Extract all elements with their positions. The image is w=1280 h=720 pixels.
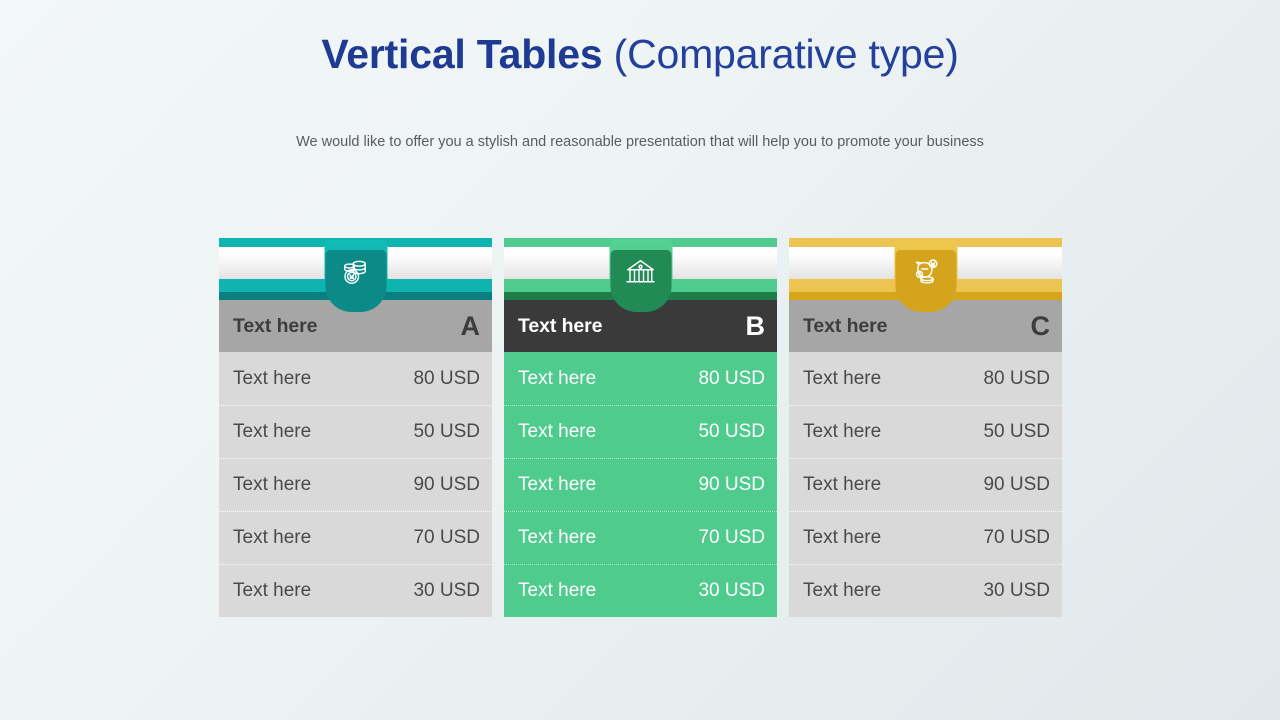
- table-row[interactable]: Text here 50 USD: [219, 405, 492, 458]
- table-b-header-label: Text here: [518, 315, 602, 338]
- row-value: 30 USD: [413, 580, 480, 602]
- table-card-b: Text here B Text here 80 USD Text here 5…: [504, 238, 777, 617]
- row-label: Text here: [518, 527, 596, 549]
- row-value: 90 USD: [698, 474, 765, 496]
- row-value: 50 USD: [413, 421, 480, 443]
- table-a-body: Text here 80 USD Text here 50 USD Text h…: [219, 352, 492, 617]
- row-label: Text here: [518, 421, 596, 443]
- row-value: 70 USD: [698, 527, 765, 549]
- table-row[interactable]: Text here 30 USD: [504, 564, 777, 617]
- row-label: Text here: [233, 474, 311, 496]
- table-row[interactable]: Text here 90 USD: [504, 458, 777, 511]
- row-value: 80 USD: [983, 368, 1050, 390]
- comparative-tables-group: Text here A Text here 80 USD Text here 5…: [0, 0, 1280, 720]
- table-a-letter: A: [461, 313, 481, 340]
- bank-building-icon: [623, 258, 659, 290]
- row-label: Text here: [803, 580, 881, 602]
- table-c-cap: [789, 238, 1062, 300]
- row-value: 30 USD: [698, 580, 765, 602]
- row-value: 50 USD: [698, 421, 765, 443]
- table-card-a: Text here A Text here 80 USD Text here 5…: [219, 238, 492, 617]
- stacked-coins-icon: [338, 258, 374, 290]
- row-value: 80 USD: [698, 368, 765, 390]
- table-a-cap: [219, 238, 492, 300]
- row-label: Text here: [233, 527, 311, 549]
- table-row[interactable]: Text here 70 USD: [789, 511, 1062, 564]
- row-label: Text here: [803, 368, 881, 390]
- table-row[interactable]: Text here 90 USD: [219, 458, 492, 511]
- table-card-c: Text here C Text here 80 USD Text here 5…: [789, 238, 1062, 617]
- row-label: Text here: [803, 527, 881, 549]
- table-b-body: Text here 80 USD Text here 50 USD Text h…: [504, 352, 777, 617]
- row-value: 50 USD: [983, 421, 1050, 443]
- row-label: Text here: [233, 421, 311, 443]
- row-label: Text here: [803, 421, 881, 443]
- table-b-icon-badge: [609, 240, 672, 307]
- table-c-body: Text here 80 USD Text here 50 USD Text h…: [789, 352, 1062, 617]
- table-b-cap: [504, 238, 777, 300]
- table-b-letter: B: [746, 313, 766, 340]
- table-row[interactable]: Text here 80 USD: [219, 352, 492, 405]
- table-c-letter: C: [1031, 313, 1051, 340]
- table-row[interactable]: Text here 90 USD: [789, 458, 1062, 511]
- row-value: 90 USD: [983, 474, 1050, 496]
- row-label: Text here: [518, 580, 596, 602]
- table-c-icon-badge: [894, 240, 957, 307]
- table-row[interactable]: Text here 70 USD: [219, 511, 492, 564]
- row-value: 70 USD: [983, 527, 1050, 549]
- table-c-header-label: Text here: [803, 315, 887, 338]
- table-row[interactable]: Text here 50 USD: [504, 405, 777, 458]
- row-value: 90 USD: [413, 474, 480, 496]
- row-label: Text here: [233, 580, 311, 602]
- row-label: Text here: [233, 368, 311, 390]
- table-row[interactable]: Text here 70 USD: [504, 511, 777, 564]
- row-label: Text here: [518, 368, 596, 390]
- table-row[interactable]: Text here 80 USD: [504, 352, 777, 405]
- row-label: Text here: [803, 474, 881, 496]
- table-row[interactable]: Text here 30 USD: [789, 564, 1062, 617]
- table-row[interactable]: Text here 30 USD: [219, 564, 492, 617]
- row-value: 30 USD: [983, 580, 1050, 602]
- row-label: Text here: [518, 474, 596, 496]
- table-row[interactable]: Text here 50 USD: [789, 405, 1062, 458]
- row-value: 70 USD: [413, 527, 480, 549]
- money-bag-coins-icon: [908, 258, 944, 290]
- table-a-icon-badge: [324, 240, 387, 307]
- table-a-header-label: Text here: [233, 315, 317, 338]
- table-row[interactable]: Text here 80 USD: [789, 352, 1062, 405]
- row-value: 80 USD: [413, 368, 480, 390]
